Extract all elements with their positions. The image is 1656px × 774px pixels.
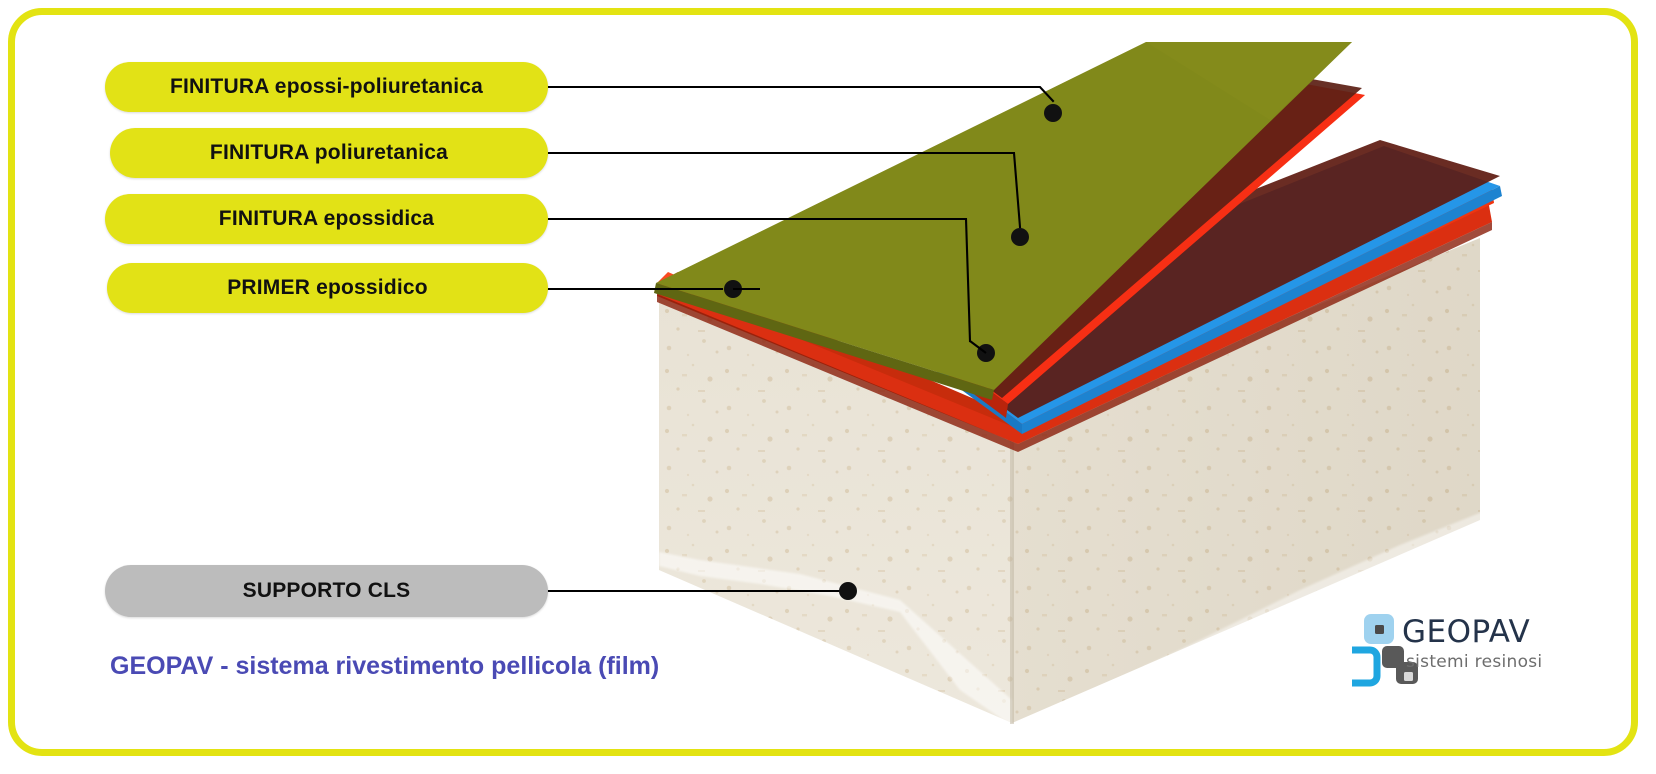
label-pill-finitura-epossi-poliuretanica[interactable]: FINITURA epossi-poliuretanica xyxy=(105,62,548,112)
logo-square-blue-outline-icon xyxy=(1352,650,1377,683)
logo-inner-dot2-icon xyxy=(1404,672,1413,681)
label-text: FINITURA poliuretanica xyxy=(210,141,448,165)
label-pill-supporto-cls[interactable]: SUPPORTO CLS xyxy=(105,565,548,617)
logo-wordmark: GEOPAV xyxy=(1402,614,1530,650)
callout-dot-supporto xyxy=(839,582,857,600)
label-pill-finitura-epossidica[interactable]: FINITURA epossidica xyxy=(105,194,548,244)
diagram-caption: GEOPAV - sistema rivestimento pellicola … xyxy=(110,652,659,681)
label-text: SUPPORTO CLS xyxy=(243,579,411,603)
geopav-logo: GEOPAV sistemi resinosi xyxy=(1352,612,1582,694)
label-pill-primer-epossidico[interactable]: PRIMER epossidico xyxy=(107,263,548,313)
label-text: PRIMER epossidico xyxy=(227,276,428,300)
logo-tagline: sistemi resinosi xyxy=(1406,652,1542,672)
callout-dot-epossi-poliuretanica xyxy=(1044,104,1062,122)
label-text: FINITURA epossidica xyxy=(219,207,434,231)
logo-inner-dot-icon xyxy=(1375,625,1384,634)
label-text: FINITURA epossi-poliuretanica xyxy=(170,75,483,99)
label-pill-finitura-poliuretanica[interactable]: FINITURA poliuretanica xyxy=(110,128,548,178)
callout-dot-poliuretanica xyxy=(1011,228,1029,246)
diagram-canvas: FINITURA epossi-poliuretanica FINITURA p… xyxy=(0,0,1656,774)
